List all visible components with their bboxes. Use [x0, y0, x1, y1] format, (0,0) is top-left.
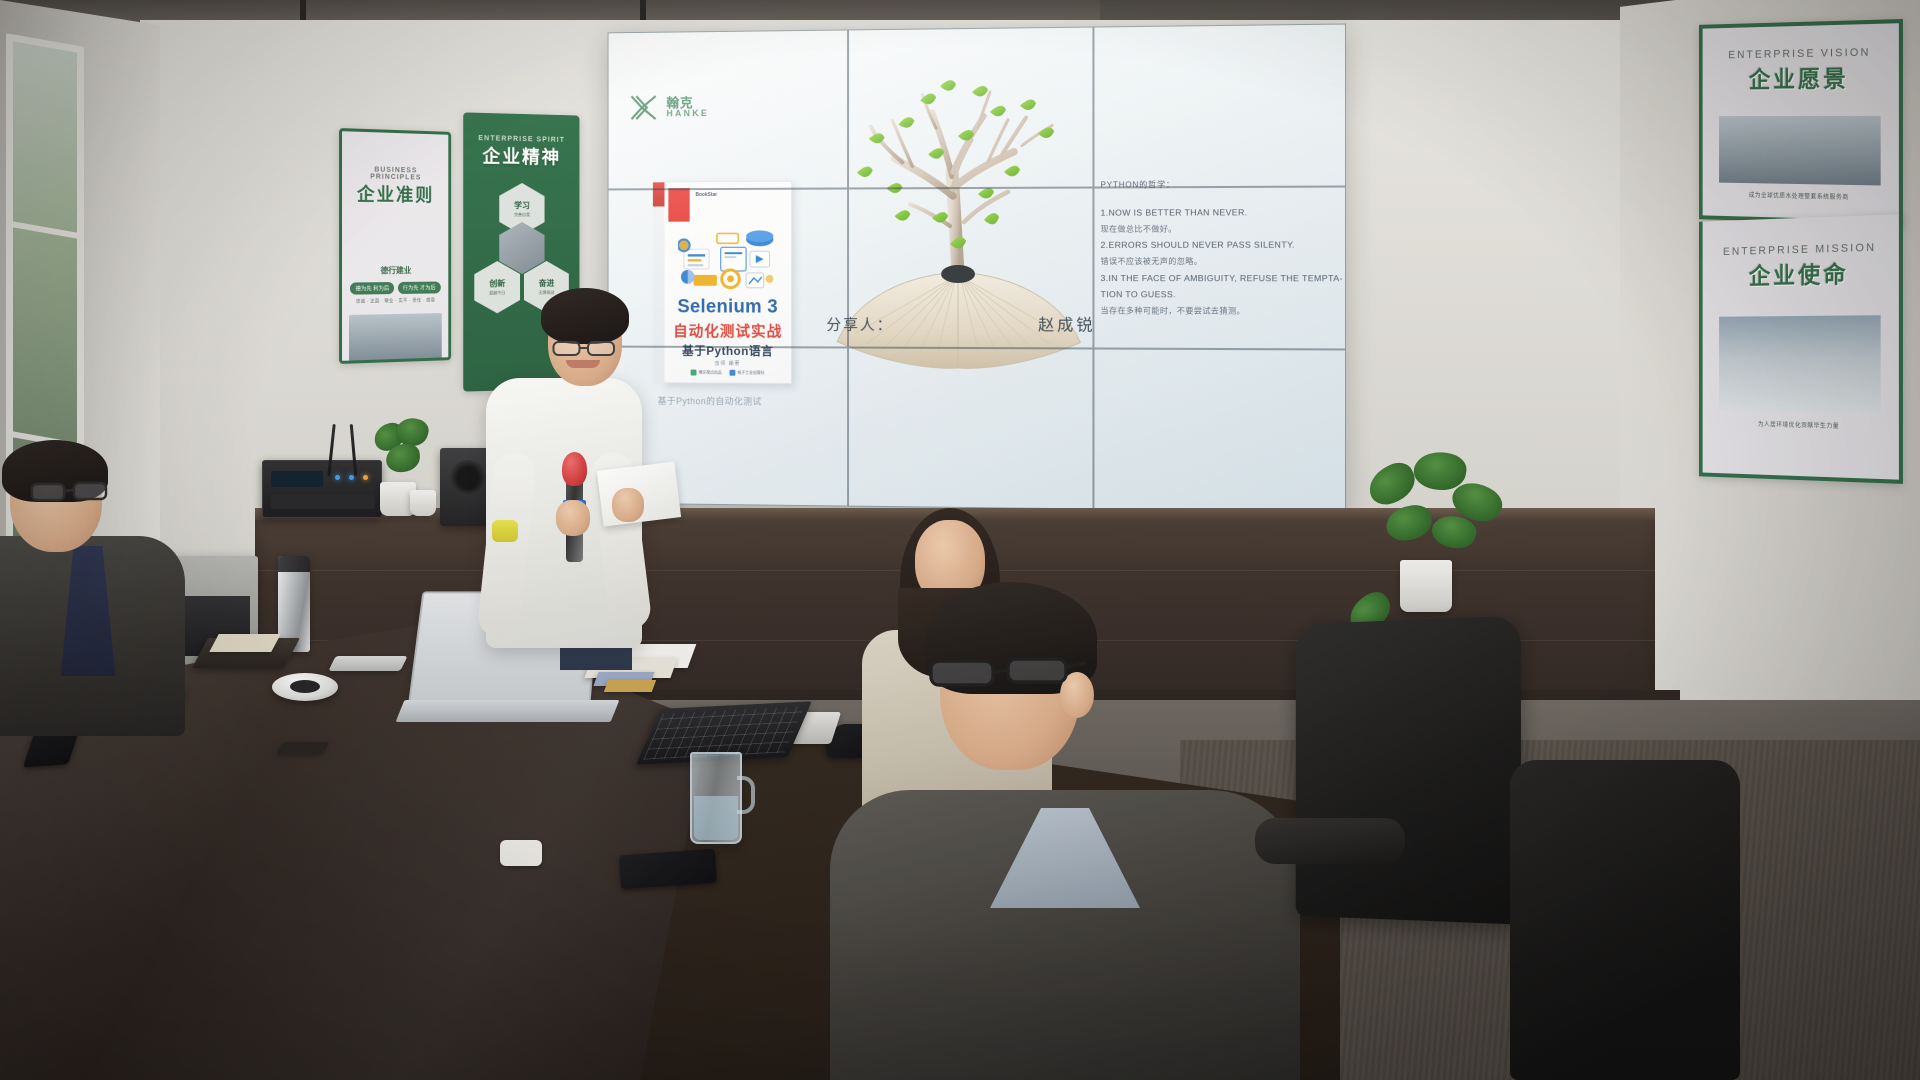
hexagon-label: 学习 — [514, 200, 530, 211]
poster-mission-caption: 为人居环境优化贡献毕生力量 — [1703, 418, 1899, 431]
poster-vision-caption: 成为全球优质水处理整套系统服务商 — [1703, 189, 1899, 202]
hexagon-label: 创新 — [489, 278, 505, 289]
poster-principles-pill: 行为先 才为后 — [398, 282, 440, 294]
av-rack-unit[interactable] — [262, 460, 382, 518]
book-badge-left: 博文视点出品 — [691, 370, 722, 376]
philosophy-line: 现在做总比不做好。 — [1101, 221, 1336, 237]
philosophy-line: 错误不应该被无声的忽略。 — [1101, 254, 1336, 270]
laptop-base[interactable] — [396, 700, 620, 722]
philosophy-line: 当存在多种可能时，不要尝试去猜测。 — [1101, 303, 1336, 319]
poster-enterprise-vision: ENTERPRISE VISION 企业愿景 成为全球优质水处理整套系统服务商 — [1699, 19, 1903, 225]
book-badge-right-text: 电子工业出版社 — [737, 370, 764, 376]
share-label: 分享人： — [826, 314, 893, 335]
eyeglasses-icon — [30, 478, 114, 504]
presenter-right-hand — [612, 488, 644, 522]
poster-vision-photo — [1719, 116, 1881, 186]
office-chair-armrest — [1255, 818, 1405, 864]
smartphone[interactable] — [619, 849, 717, 890]
poster-spirit-title: 企业精神 — [471, 142, 571, 170]
book-subtitle-cn: 基于Python语言 — [664, 342, 791, 359]
book-publisher-mark: BookStar — [695, 192, 717, 198]
python-philosophy-block: PYTHON的哲学： 1.NOW IS BETTER THAN NEVER. 现… — [1101, 178, 1336, 319]
conference-microphone[interactable] — [272, 673, 338, 701]
book-title-en: Selenium 3 — [664, 297, 791, 319]
office-chair[interactable] — [1296, 615, 1521, 924]
book-author: 虫师 编著 — [664, 360, 791, 368]
status-led — [335, 475, 340, 480]
poster-enterprise-mission: ENTERPRISE MISSION 企业使命 为人居环境优化贡献毕生力量 — [1699, 214, 1903, 484]
philosophy-line: 2.ERRORS SHOULD NEVER PASS SILENTY. — [1101, 237, 1336, 254]
book-spine — [653, 182, 665, 384]
poster-mission-photo — [1719, 315, 1881, 413]
eyeglasses-icon — [552, 338, 618, 358]
book-footer: 博文视点出品 电子工业出版社 — [664, 369, 791, 376]
cable-trough — [277, 742, 330, 754]
book-badge-right: 电子工业出版社 — [730, 370, 765, 376]
window-mullion — [13, 221, 77, 238]
book-cover: BookStar — [664, 181, 793, 384]
presenter-hair — [541, 288, 629, 344]
book-red-tab — [668, 188, 689, 222]
poster-business-principles: BUSINESS PRINCIPLES 企业准则 德行建业 德为先 利为后 行为… — [339, 128, 451, 364]
mug-contents — [694, 796, 738, 840]
book-caption: 基于Python的自动化测试 — [658, 394, 762, 408]
presentation-slide: 翰克 HANKE BookStar — [608, 23, 1346, 512]
share-name: 赵成锐 — [1038, 311, 1095, 335]
hexagon-sublabel: 完善自我 — [514, 212, 530, 218]
glass-mug[interactable] — [690, 752, 742, 844]
speaker-driver — [450, 460, 486, 496]
conference-room-scene: BUSINESS PRINCIPLES 企业准则 德行建业 德为先 利为后 行为… — [0, 0, 1920, 1080]
presenter-mouth — [566, 360, 600, 368]
presenter-cuff-detail — [492, 520, 518, 542]
poster-principles-photo — [349, 313, 442, 364]
microphone-foam-cover — [562, 452, 587, 486]
office-chair[interactable] — [1510, 760, 1740, 1080]
poster-principles-fine: 忠诚 · 正直 · 敬业 · 实干 · 责任 · 感恩 — [348, 297, 443, 305]
desk-item[interactable] — [500, 840, 542, 866]
status-led — [363, 475, 368, 480]
hexagon-sublabel: 无惧挑战 — [539, 290, 555, 296]
book-illustration — [678, 229, 779, 290]
eyeglasses-icon — [928, 655, 1088, 689]
poster-principles-sub: 德行建业 — [348, 265, 443, 277]
philosophy-line: TION TO GUESS. — [1101, 287, 1336, 304]
remote-control[interactable] — [328, 656, 407, 671]
presenter-credit: 分享人： 赵成锐 — [826, 311, 1095, 336]
plant-pot — [1400, 560, 1452, 612]
rack-slot — [271, 495, 375, 509]
video-wall-display[interactable]: 翰克 HANKE BookStar — [608, 23, 1346, 512]
company-logo: 翰克 HANKE — [629, 92, 709, 122]
philosophy-heading: PYTHON的哲学： — [1101, 178, 1336, 190]
poster-mission-title: 企业使命 — [1712, 254, 1889, 292]
mic-grille — [290, 680, 320, 693]
book-title-cn: 自动化测试实战 — [664, 320, 791, 341]
poster-principles-pill: 德为先 利为后 — [350, 282, 394, 295]
presenter-left-hand — [556, 500, 590, 536]
hexagon-label: 奋进 — [539, 278, 555, 289]
thermos-cap — [278, 556, 310, 572]
rack-display — [271, 471, 323, 487]
plant-pot — [410, 490, 436, 516]
mug-handle — [737, 776, 755, 814]
notepad-page — [209, 634, 281, 652]
philosophy-line: 3.IN THE FACE OF AMBIGUITY, REFUSE THE T… — [1101, 270, 1336, 287]
philosophy-line: 1.NOW IS BETTER THAN NEVER. — [1101, 204, 1336, 222]
book-badge-left-text: 博文视点出品 — [698, 370, 721, 376]
poster-principles-title: 企业准则 — [350, 180, 441, 207]
booklet — [604, 680, 656, 692]
hanke-logo-icon — [629, 93, 662, 123]
brand-name-en: HANKE — [666, 109, 709, 118]
poster-vision-title: 企业愿景 — [1712, 58, 1889, 94]
hexagon-sublabel: 超越今日 — [489, 290, 505, 296]
status-led — [349, 475, 354, 480]
